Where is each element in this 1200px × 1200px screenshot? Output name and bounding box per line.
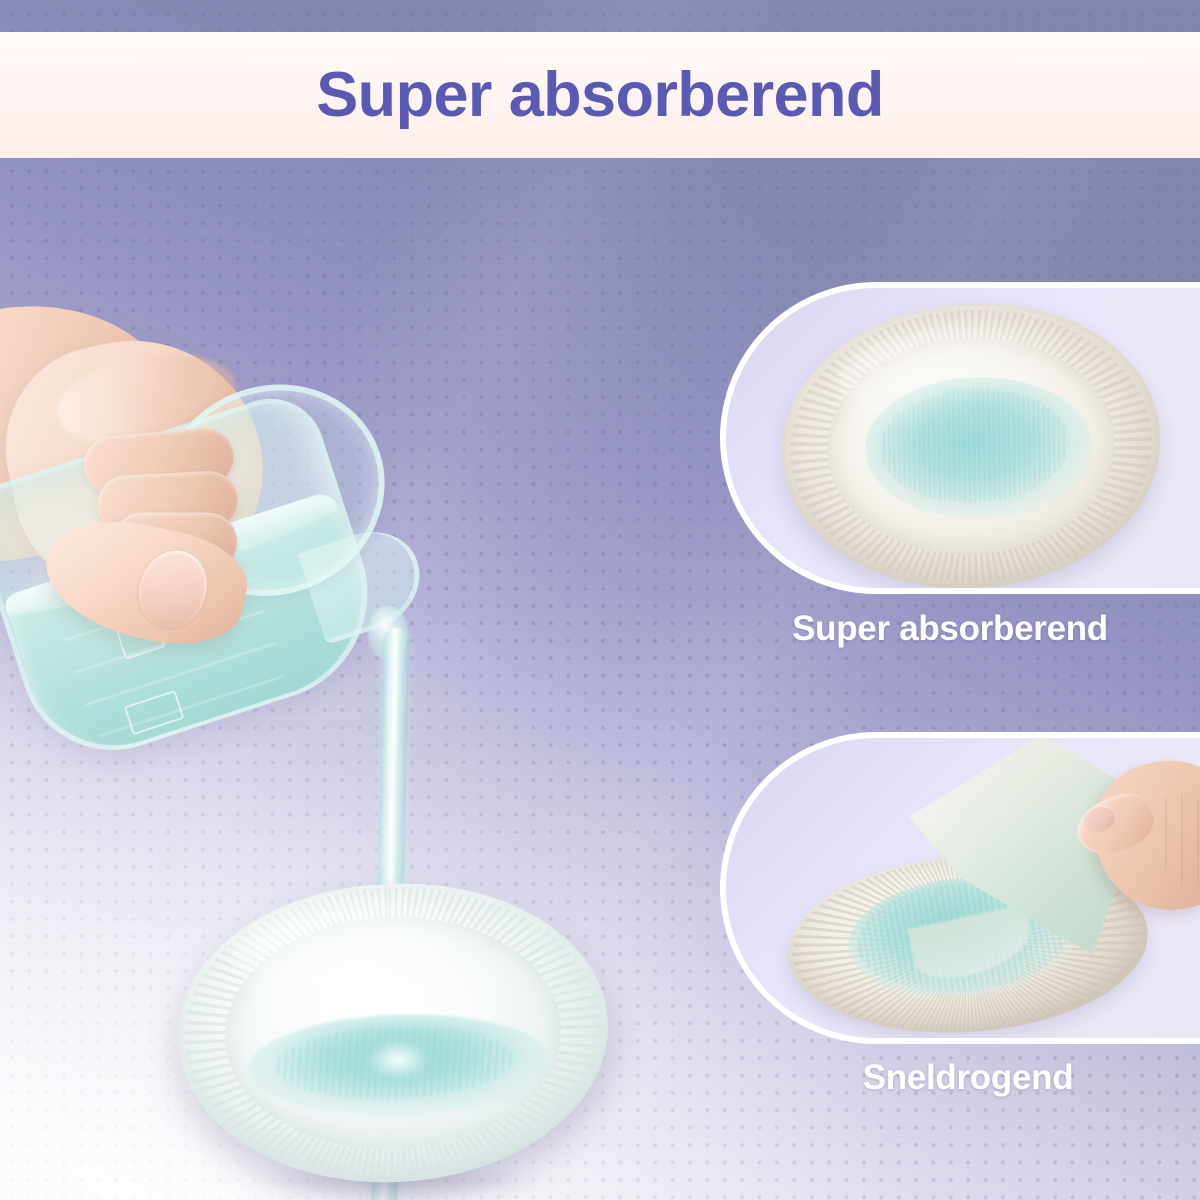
- feature-card-sneldrogend[interactable]: [720, 732, 1200, 1044]
- product-feature-graphic: Super absorberend: [0, 0, 1200, 1200]
- page-title: Super absorberend: [316, 64, 883, 127]
- feature-card-label-sneldrogend: Sneldrogend: [738, 1058, 1198, 1098]
- feature-card-label-super-absorberend: Super absorberend: [720, 609, 1180, 649]
- header-banner: Super absorberend: [0, 32, 1200, 158]
- hero-photo: [0, 298, 622, 1178]
- hand-peeling: [1062, 746, 1200, 942]
- nursing-pad-absorbed-photo: [764, 294, 1184, 594]
- feature-card-super-absorberend[interactable]: [720, 282, 1200, 594]
- pad-body: [775, 294, 1167, 594]
- nursing-pad: [173, 877, 613, 1190]
- nursing-pad-peel-layer-photo: [726, 738, 1200, 1044]
